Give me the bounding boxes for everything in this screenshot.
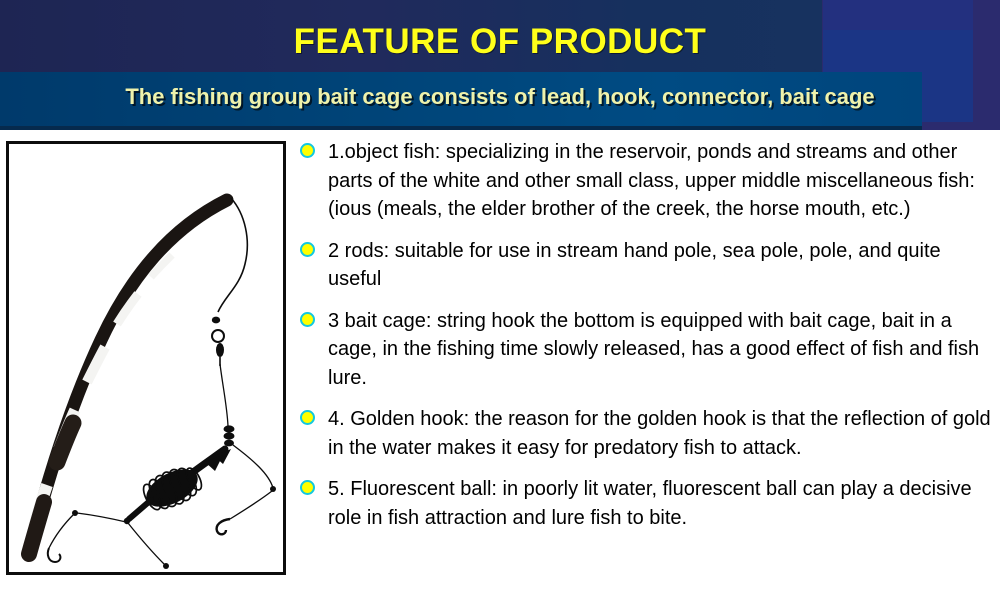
feature-text: 1.object fish: specializing in the reser… (328, 138, 992, 224)
feature-item: 2 rods: suitable for use in stream hand … (300, 237, 992, 294)
bullet-icon (300, 242, 315, 257)
product-feature-page: FEATURE OF PRODUCT The fishing group bai… (0, 0, 1000, 601)
feature-list: 1.object fish: specializing in the reser… (300, 138, 992, 532)
header-band-divider (0, 126, 922, 130)
feature-text: 4. Golden hook: the reason for the golde… (328, 405, 992, 462)
page-title: FEATURE OF PRODUCT (0, 22, 1000, 62)
feature-text: 2 rods: suitable for use in stream hand … (328, 237, 992, 294)
header-banner: FEATURE OF PRODUCT The fishing group bai… (0, 0, 1000, 130)
line-stopper-bead (212, 317, 220, 324)
feature-text: 5. Fluorescent ball: in poorly lit water… (328, 475, 992, 532)
bullet-icon (300, 410, 315, 425)
feature-item: 4. Golden hook: the reason for the golde… (300, 405, 992, 462)
feature-text: 3 bait cage: string hook the bottom is e… (328, 307, 992, 393)
rig-junction-knot (224, 425, 235, 446)
fluorescent-ball (212, 330, 224, 342)
bullet-icon (300, 143, 315, 158)
bullet-icon (300, 312, 315, 327)
branch-junction (124, 518, 130, 524)
product-image-frame (6, 141, 286, 575)
feature-item: 1.object fish: specializing in the reser… (300, 138, 992, 224)
feature-item: 5. Fluorescent ball: in poorly lit water… (300, 475, 992, 532)
page-subtitle: The fishing group bait cage consists of … (0, 82, 1000, 112)
feature-item: 3 bait cage: string hook the bottom is e… (300, 307, 992, 393)
fishing-rod-illustration (9, 144, 283, 572)
bullet-icon (300, 480, 315, 495)
